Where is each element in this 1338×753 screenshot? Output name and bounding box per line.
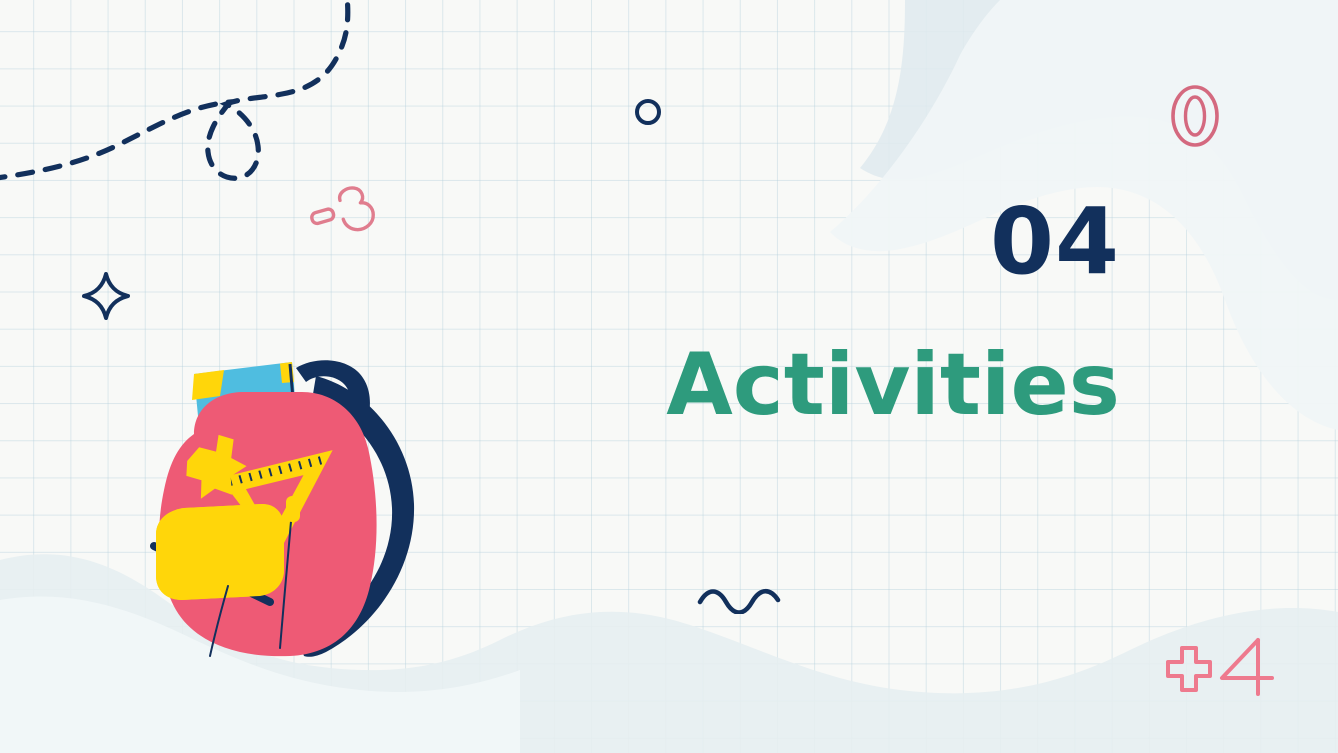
slide-title: Activities (660, 342, 1120, 428)
slide-number: 04 (660, 196, 1120, 288)
slide-canvas: 04 Activities (0, 0, 1338, 753)
zipper-pull (286, 496, 300, 522)
backpack-illustration (120, 352, 450, 712)
slide-text-block: 04 Activities (660, 196, 1120, 428)
backpack-front-pocket-flap (154, 504, 284, 602)
